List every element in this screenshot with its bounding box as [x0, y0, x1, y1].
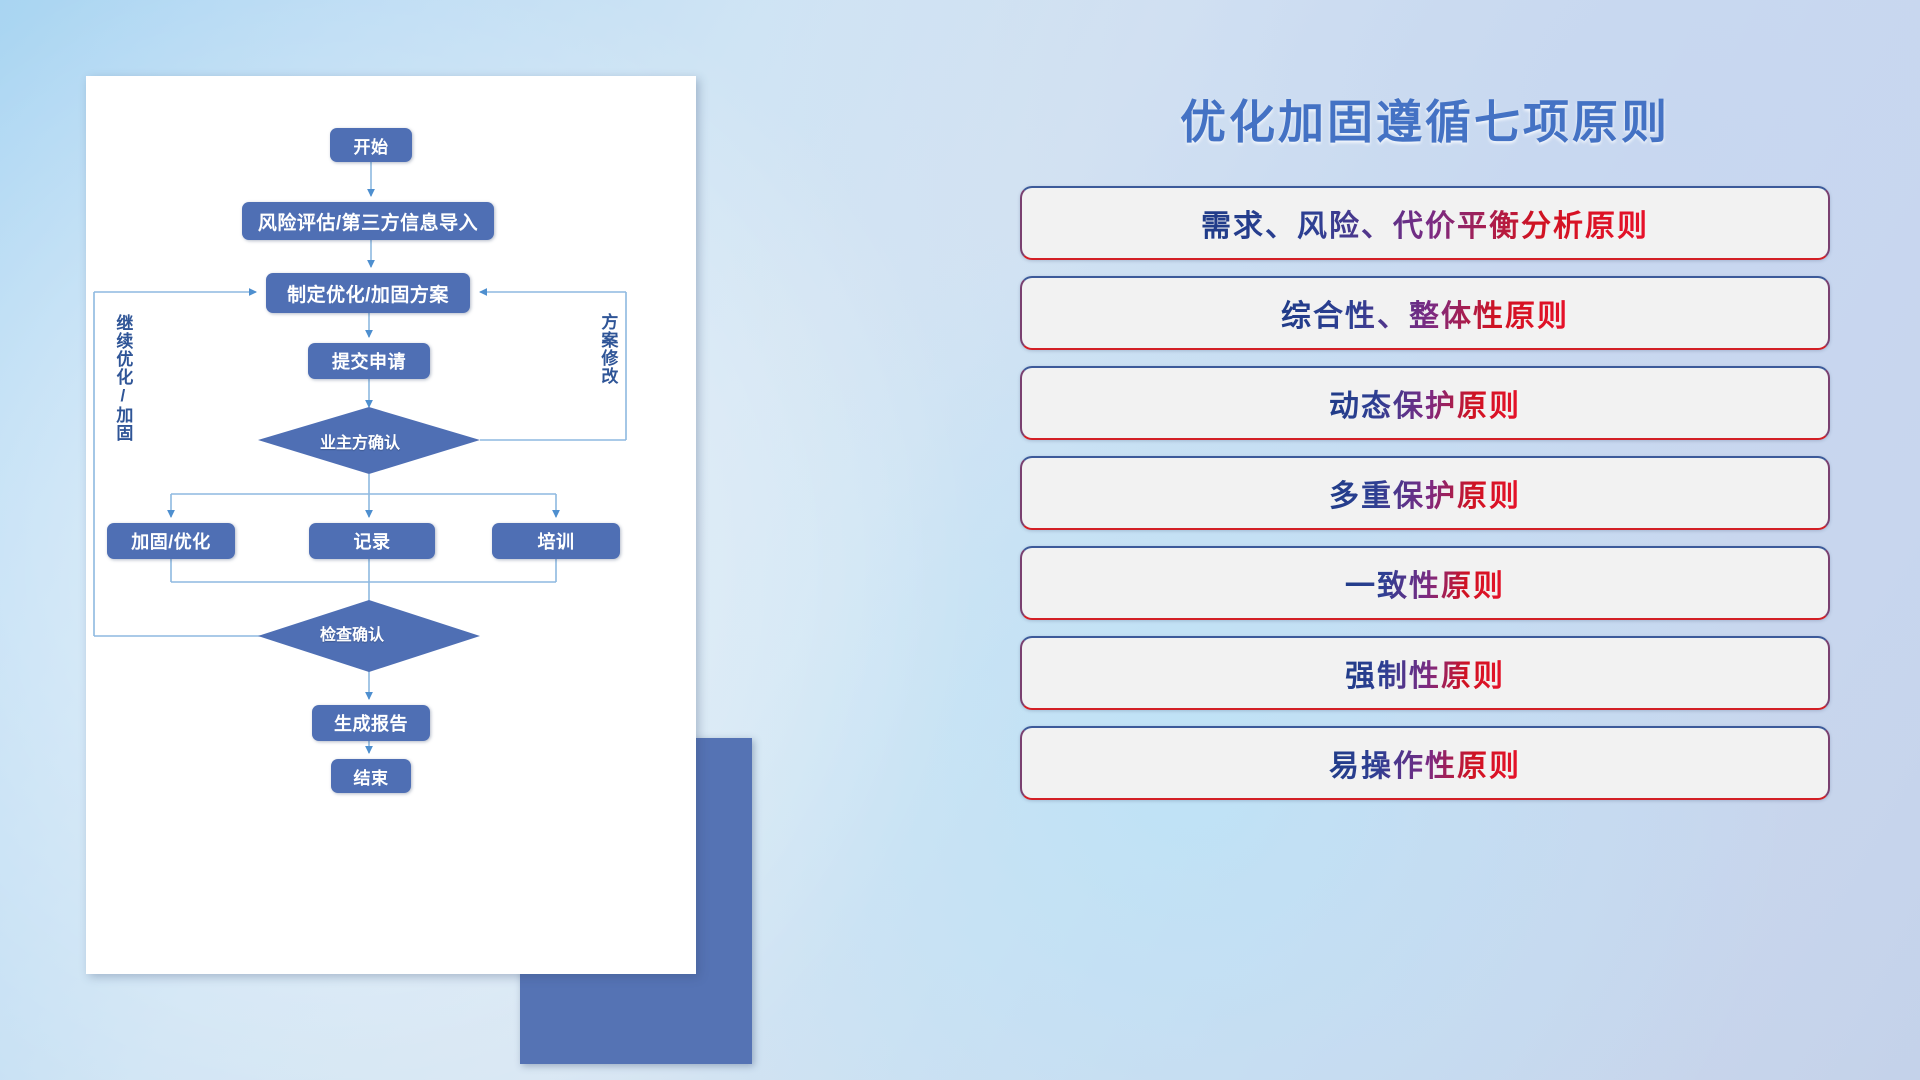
principle-label: 易操作性原则 — [1329, 741, 1521, 785]
flow-node-start[interactable]: 开始 — [330, 128, 412, 162]
principle-item-5[interactable]: 一致性原则 — [1020, 546, 1830, 620]
flow-edge-label-plan-revision: 方案修改 — [599, 313, 616, 385]
flow-node-risk-assessment[interactable]: 风险评估/第三方信息导入 — [242, 202, 494, 240]
principle-item-3[interactable]: 动态保护原则 — [1020, 366, 1830, 440]
flow-node-check-confirm-label: 检查确认 — [320, 621, 384, 645]
principle-label: 强制性原则 — [1345, 651, 1505, 695]
flow-node-record[interactable]: 记录 — [309, 523, 435, 559]
flow-node-submit[interactable]: 提交申请 — [308, 343, 430, 379]
principle-label: 一致性原则 — [1345, 561, 1505, 605]
page-title: 优化加固遵循七项原则 — [1020, 86, 1830, 152]
principle-item-4[interactable]: 多重保护原则 — [1020, 456, 1830, 530]
principle-item-6[interactable]: 强制性原则 — [1020, 636, 1830, 710]
flow-node-owner-confirm-label: 业主方确认 — [320, 429, 400, 453]
flowchart-card: 开始 风险评估/第三方信息导入 制定优化/加固方案 提交申请 加固/优化 记录 … — [86, 76, 696, 974]
principles-list: 需求、风险、代价平衡分析原则 综合性、整体性原则 动态保护原则 多重保护原则 一… — [1020, 186, 1830, 800]
flow-node-end[interactable]: 结束 — [331, 759, 411, 793]
flowchart-panel: 开始 风险评估/第三方信息导入 制定优化/加固方案 提交申请 加固/优化 记录 … — [86, 76, 746, 966]
principle-item-1[interactable]: 需求、风险、代价平衡分析原则 — [1020, 186, 1830, 260]
flow-node-make-plan[interactable]: 制定优化/加固方案 — [266, 273, 470, 313]
principles-panel: 优化加固遵循七项原则 需求、风险、代价平衡分析原则 综合性、整体性原则 动态保护… — [1020, 86, 1830, 1006]
flow-node-training[interactable]: 培训 — [492, 523, 620, 559]
slide-canvas: 开始 风险评估/第三方信息导入 制定优化/加固方案 提交申请 加固/优化 记录 … — [0, 0, 1920, 1080]
principle-label: 需求、风险、代价平衡分析原则 — [1201, 201, 1649, 245]
flow-edge-label-continue-optimize: 继续优化/加固 — [114, 314, 131, 442]
principle-label: 多重保护原则 — [1329, 471, 1521, 515]
principle-item-2[interactable]: 综合性、整体性原则 — [1020, 276, 1830, 350]
flow-node-reinforce[interactable]: 加固/优化 — [107, 523, 235, 559]
principle-label: 动态保护原则 — [1329, 381, 1521, 425]
principle-label: 综合性、整体性原则 — [1281, 291, 1569, 335]
principle-item-7[interactable]: 易操作性原则 — [1020, 726, 1830, 800]
flow-node-generate-report[interactable]: 生成报告 — [312, 705, 430, 741]
